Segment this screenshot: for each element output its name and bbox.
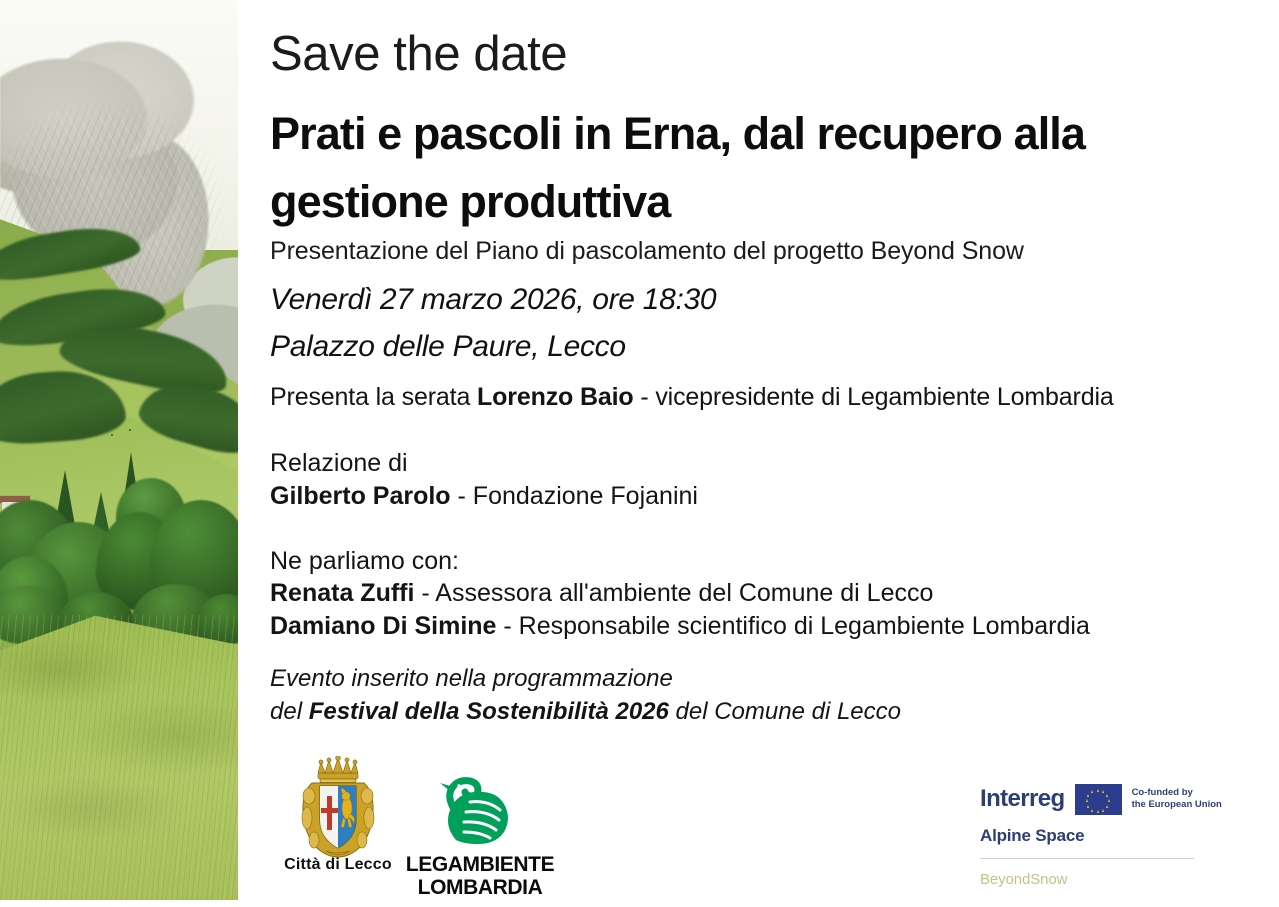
kicker-save-the-date: Save the date <box>270 28 567 82</box>
festival-name: Festival della Sostenibilità 2026 <box>309 698 669 725</box>
panel-label: Ne parliamo con: <box>270 547 459 576</box>
photo-meadow-shading <box>0 640 238 870</box>
event-venue: Palazzo delle Paure, Lecco <box>270 330 626 364</box>
logo-legambiente-lombardia: LEGAMBIENTE LOMBARDIA <box>400 774 560 889</box>
interreg-divider <box>980 858 1194 859</box>
legambiente-line-2: LOMBARDIA <box>400 877 560 898</box>
event-host-line: Presenta la serata Lorenzo Baio - vicepr… <box>270 383 1114 412</box>
report-speaker-name: Gilberto Parolo <box>270 482 451 510</box>
festival-note-line-2: del Festival della Sostenibilità 2026 de… <box>270 698 901 726</box>
poster-content: Save the date Prati e pascoli in Erna, d… <box>270 0 1279 907</box>
poster-subtitle: Presentazione del Piano di pascolamento … <box>270 237 1024 266</box>
eu-funding-line-1: Co-funded by <box>1132 787 1222 799</box>
panel-speaker-2: Damiano Di Simine - Responsabile scienti… <box>270 612 1090 641</box>
page-title: Prati e pascoli in Erna, dal recupero al… <box>270 100 1170 237</box>
lecco-coat-of-arms-icon <box>270 756 406 860</box>
host-name: Lorenzo Baio <box>477 383 634 411</box>
eu-flag-icon <box>1075 784 1122 815</box>
report-speaker-affiliation: - Fondazione Fojanini <box>451 482 698 510</box>
festival-suffix: del Comune di Lecco <box>669 698 901 725</box>
panel-speaker-2-role: - Responsabile scientifico di Legambient… <box>496 612 1089 640</box>
logo-interreg-alpine-space: Interreg Co-funded by <box>980 784 1230 894</box>
host-role: - vicepresidente di Legambiente Lombardi… <box>634 383 1114 411</box>
eu-funding-text: Co-funded by the European Union <box>1132 787 1222 811</box>
event-date: Venerdì 27 marzo 2026, ore 18:30 <box>270 283 716 317</box>
report-speaker-line: Gilberto Parolo - Fondazione Fojanini <box>270 482 698 511</box>
logo-citta-di-lecco: Città di Lecco <box>270 756 406 886</box>
report-label: Relazione di <box>270 449 408 478</box>
legambiente-line-1: LEGAMBIENTE <box>400 854 560 875</box>
panel-speaker-1-name: Renata Zuffi <box>270 579 414 607</box>
interreg-project-name: BeyondSnow <box>980 871 1230 888</box>
lecco-caption: Città di Lecco <box>270 856 406 874</box>
interreg-programme: Alpine Space <box>980 826 1230 846</box>
festival-note-line-1: Evento inserito nella programmazione <box>270 665 673 693</box>
legambiente-swan-icon <box>400 774 560 850</box>
panel-speaker-1: Renata Zuffi - Assessora all'ambiente de… <box>270 579 933 608</box>
logo-row: Città di Lecco <box>270 756 1279 896</box>
interreg-top-row: Interreg Co-funded by <box>980 784 1230 814</box>
landscape-photo <box>0 0 238 900</box>
host-prefix: Presenta la serata <box>270 383 477 411</box>
interreg-wordmark: Interreg <box>980 787 1065 811</box>
festival-prefix: del <box>270 698 309 725</box>
panel-speaker-1-role: - Assessora all'ambiente del Comune di L… <box>414 579 933 607</box>
panel-speaker-2-name: Damiano Di Simine <box>270 612 496 640</box>
eu-funding-line-2: the European Union <box>1132 799 1222 811</box>
